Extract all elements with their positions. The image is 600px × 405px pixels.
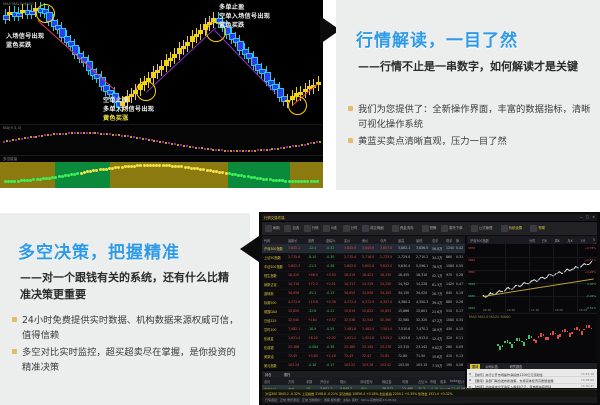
indicator-dot (186, 145, 188, 147)
terminal-status-bar: 行情连接：正常 委托通道：正常 当前用户：游客 服务器：主站1 延时：32ms … (262, 397, 597, 403)
toolbar-icon[interactable] (471, 225, 478, 232)
candle (509, 342, 511, 344)
quote-cell: 23.192 (362, 345, 373, 349)
indicator-dot (30, 136, 32, 138)
quote-cell: +96.5 (308, 273, 318, 277)
quote-cell: 32,320 (416, 318, 427, 322)
toolbar-icon[interactable] (323, 225, 330, 232)
quote-cell: 2,715.4 (344, 255, 356, 259)
column-header[interactable]: 市值 (430, 379, 436, 384)
price-line-segment (589, 262, 592, 265)
quote-cell: 1,925.8 (398, 336, 410, 340)
quote-cell: 3,862.1 (398, 246, 410, 250)
quote-cell: 5,602.3 (288, 264, 300, 268)
column-header[interactable]: 涨幅% (326, 238, 335, 243)
ticker-text: 沪深300 3845.2 -0.32% 上证指数 3198.6 -0.21% 深… (265, 391, 453, 396)
column-header[interactable]: 最低 (416, 238, 422, 243)
news-timestamp: 15:38:05 (581, 378, 594, 382)
annotation-line: 多单入场信号出现 (103, 106, 154, 115)
quote-cell: 34.2万 (432, 255, 442, 260)
column-header[interactable]: 开仓价 (320, 379, 330, 384)
indicator-dot (27, 137, 29, 139)
quote-cell: 14,317 (344, 282, 355, 286)
quote-cell: +184 (308, 318, 317, 322)
quote-cell: 860 (446, 255, 452, 259)
grid-line (577, 244, 578, 312)
chart-sub-indicator-2: 多空能量 (0, 155, 323, 188)
quote-cell: 2,710.2 (416, 255, 428, 259)
indicator-dot (9, 140, 11, 142)
quote-cell: 78.5万 (432, 264, 442, 269)
candle (576, 327, 578, 331)
quote-cell: 640 (446, 291, 452, 295)
signal-marker-4[interactable] (288, 96, 307, 115)
column-header[interactable]: 手数 (306, 379, 312, 384)
indicator-dot (142, 138, 144, 140)
toolbar-button[interactable]: 成交明细 (370, 225, 384, 230)
grid-line (467, 270, 597, 271)
quote-cell: -0.21 (326, 309, 334, 313)
indicator-dot (271, 148, 273, 150)
indicator-dot (248, 150, 250, 152)
quote-cell: 34,102 (380, 291, 391, 295)
candle (535, 340, 537, 344)
column-header[interactable]: 合约 (264, 379, 270, 384)
indicator-dot (283, 147, 285, 149)
toolbar-icon[interactable] (530, 225, 537, 232)
quote-cell: 1420 (446, 282, 454, 286)
quote-cell: +0.51 (326, 282, 336, 286)
indicator-dot (295, 145, 297, 147)
quote-cell: 3,845.0 (344, 246, 356, 250)
candle (533, 339, 535, 341)
quote-cell: 103.15 (416, 363, 427, 367)
toolbar-icon[interactable] (343, 225, 350, 232)
quote-cell: 72.80 (398, 354, 407, 358)
quote-cell: 0.11 (456, 336, 463, 340)
quote-cell: 39.4万 (432, 300, 442, 305)
quote-name: 上证50指数 (264, 255, 281, 260)
quote-cell: 2,723.5 (380, 255, 392, 259)
quote-cell: -0.25 (326, 327, 334, 331)
column-header[interactable]: 涨跌 (308, 238, 314, 243)
quote-cell: 7,482.5 (362, 327, 374, 331)
indicator-dot (50, 134, 52, 136)
quote-cell: 61.3万 (432, 282, 442, 287)
price-tick-label: 3820 (468, 306, 475, 310)
candle (574, 328, 576, 331)
toolbar-icon[interactable] (362, 225, 369, 232)
column-header[interactable]: 今开 (380, 238, 386, 243)
terminal-toolbar[interactable]: 刷新自选行情K线分时成交明细资金流向预警委托下单公式管理系统设置帮助 (262, 222, 597, 236)
annotation-line-highlight: 黄色买涨 (103, 115, 154, 124)
candle (526, 339, 528, 341)
quote-cell: -8.10 (308, 255, 316, 259)
quote-cell: 3,836.5 (416, 246, 428, 250)
news-bullet-icon (469, 386, 471, 388)
chart-main-pane: MA5 MA10 MA20 入场信号出现 蓝色买跌 空单止盈 多单入场信号出现 … (0, 0, 323, 124)
candle (579, 329, 581, 331)
quote-cell: -0.32 (326, 246, 334, 250)
quote-cell: 14,342 (398, 282, 409, 286)
quote-cell: 1080 (446, 318, 454, 322)
indicator-dot (38, 135, 40, 137)
indicator-dot (239, 150, 241, 152)
indicator-dot (165, 142, 167, 144)
indicator-dot (204, 148, 206, 150)
indicator-dot (210, 148, 212, 150)
chart-sub-indicator-1: KDJ(9,3,3) (0, 124, 323, 155)
quote-cell: 47.2万 (432, 318, 442, 323)
column-header[interactable]: 现手 (446, 238, 452, 243)
indicator-dot (269, 149, 271, 151)
candle-chart-ma-label: MA5 MA10 MA20 MA60 (469, 315, 511, 319)
quote-cell: 34,055 (344, 291, 355, 295)
quote-name: 中证500指数 (264, 264, 283, 269)
indicator-dot (180, 144, 182, 146)
toolbar-icon[interactable] (441, 225, 448, 232)
candle (538, 336, 540, 338)
toolbar-button[interactable]: 行情 (312, 225, 319, 230)
indicator-dot (274, 148, 276, 150)
quote-cell: 4,350.3 (416, 300, 428, 304)
mini-chart-candles: MA5 MA10 MA20 MA60 (467, 313, 597, 362)
quote-name: 美原油 (264, 354, 274, 359)
indicator-dot (133, 136, 135, 138)
indicator-dot (112, 134, 114, 136)
signal-marker-1[interactable] (36, 4, 55, 23)
toolbar-icon[interactable] (501, 225, 508, 232)
price-tick-label: 3850 (468, 270, 475, 274)
quote-cell: +0.57 (326, 318, 336, 322)
indicator-dot (286, 146, 288, 148)
quote-cell: 32,540 (288, 318, 299, 322)
quote-cell: 15,822 (362, 309, 373, 313)
quote-name: 伦敦银 (264, 345, 274, 350)
indicator-dot (68, 132, 70, 134)
annotation-line: 入场信号出现 (6, 33, 44, 42)
quote-cell: 18,310 (416, 273, 427, 277)
column-header[interactable]: 买价 (344, 238, 350, 243)
quote-cell: 0.26 (456, 300, 463, 304)
quote-cell: 32,360 (380, 318, 391, 322)
indicator-dot (292, 145, 294, 147)
quote-cell: -0.13 (326, 291, 334, 295)
candle (545, 337, 547, 340)
column-header[interactable]: 代码 (264, 238, 270, 243)
quote-cell: 72.47 (362, 354, 371, 358)
toolbar-button[interactable]: 公式管理 (479, 225, 493, 230)
column-header[interactable]: 最高 (398, 238, 404, 243)
indicator-dot (148, 139, 150, 141)
mini-chart-tab[interactable]: 分时 (529, 238, 535, 243)
quote-name: 日经225 (264, 318, 276, 323)
market-reading-title: 行情解读，一目了然 (356, 26, 518, 51)
indicator-dot (263, 149, 265, 151)
quote-table-panel[interactable]: 代码最新价涨跌涨幅%买价卖价今开最高最低总手现手换手% 沪深300指数3,845… (262, 236, 465, 388)
indicator-dot (251, 150, 253, 152)
toolbar-button[interactable]: 预警 (430, 225, 437, 230)
indicator-dot (215, 149, 217, 151)
quote-cell: 18,420 (288, 273, 299, 277)
candle (557, 335, 559, 339)
candle (581, 331, 583, 335)
toolbar-icon[interactable] (304, 225, 311, 232)
column-header[interactable]: 卖价 (362, 238, 368, 243)
candle (507, 340, 509, 344)
indicator-dot (192, 146, 194, 148)
quote-cell: -0.17 (326, 363, 334, 367)
grid-line (467, 283, 597, 284)
toolbar-button[interactable]: 刷新 (273, 225, 280, 230)
quote-cell: 103.26 (362, 363, 373, 367)
mini-chart-tab[interactable]: 月K (567, 238, 572, 243)
time-tick-label: 14:00 (555, 308, 563, 312)
indicator-dot (115, 134, 117, 136)
news-bullet-icon (469, 373, 471, 375)
quote-cell: 0.31 (456, 255, 463, 259)
quote-cell: 1,921.6 (362, 336, 374, 340)
quote-cell: -32.6 (308, 309, 316, 313)
slide-root: MA5 MA10 MA20 入场信号出现 蓝色买跌 空单止盈 多单入场信号出现 … (0, 0, 600, 405)
column-header[interactable]: 成本 (440, 379, 446, 384)
quote-cell: 18,419 (344, 273, 355, 277)
toolbar-button[interactable]: 系统设置 (509, 225, 523, 230)
quote-cell: 0.34 (456, 318, 463, 322)
bullet-square-icon (12, 349, 17, 354)
indicator-dot (201, 147, 203, 149)
percent-tick-label: +0.78% (585, 246, 596, 250)
quote-cell: 3,845.6 (362, 246, 374, 250)
indicator-dot (127, 135, 129, 137)
indicator-dot (266, 149, 268, 151)
quote-cell: -45.2 (308, 291, 316, 295)
quote-cell: 12.4万 (432, 336, 442, 341)
quote-cell: 15,866 (398, 309, 409, 313)
price-tick-label: 3840 (468, 282, 475, 286)
quote-cell: 15,853 (380, 309, 391, 313)
mini-chart-panel[interactable]: 沪深300指数 分时日K周K月K1分5分15分30分60分 3870386038… (467, 236, 597, 388)
trendline-down-1 (37, 20, 115, 90)
quote-cell: 7,501.0 (380, 327, 392, 331)
column-header[interactable]: 现价 (340, 379, 346, 384)
indicator-dot (301, 144, 303, 146)
quote-cell: -21.5 (308, 264, 316, 268)
indicator-dot (53, 133, 55, 135)
market-reading-subtitle: ——行情不止是一串数字，如何解读才是关键 (358, 58, 586, 75)
price-tick-label: 3870 (468, 246, 475, 250)
annotation-long-take-profit: 多单止盈 空单入场信号出现 蓝色买跌 (219, 4, 270, 31)
quote-cell: 5,630.4 (398, 264, 410, 268)
quote-cell: 34,058 (362, 291, 373, 295)
quote-name: 恒生指数 (264, 273, 277, 278)
window-close-button[interactable]: × (592, 215, 595, 219)
toolbar-button[interactable]: 委托下单 (449, 225, 463, 230)
indicator-dot (189, 146, 191, 148)
column-header[interactable]: 最新价 (288, 238, 298, 243)
candle (543, 334, 545, 336)
candle (502, 345, 504, 347)
quote-cell: 0.17 (456, 309, 463, 313)
price-line-segment (586, 264, 588, 265)
price-tick-label: 3830 (468, 294, 475, 298)
indicator-dot (307, 143, 309, 145)
candle (504, 341, 506, 344)
column-header[interactable]: 保证金 (382, 379, 392, 384)
indicator-dot (80, 132, 82, 134)
candle (499, 346, 501, 350)
quote-cell: 103.24 (288, 363, 299, 367)
mini-chart-tab[interactable]: 1分 (580, 238, 585, 243)
candle (552, 331, 554, 335)
quote-name: 道琼斯 (264, 291, 274, 296)
quote-cell: +6.20 (308, 336, 318, 340)
percent-tick-label: -0.26% (586, 294, 596, 298)
quote-cell: 0.19 (456, 291, 463, 295)
quote-cell: -18.9 (308, 327, 316, 331)
scrolling-ticker: 沪深300 3845.2 -0.32% 上证指数 3198.6 -0.21% 深… (262, 389, 597, 397)
quote-name: 美元指数 (264, 363, 277, 368)
quote-cell: 3,857.8 (380, 246, 392, 250)
indicator-dot (41, 135, 43, 137)
quote-cell: 4,357.0 (380, 300, 392, 304)
column-header[interactable]: 总计 (458, 379, 464, 384)
mini-chart-tab[interactable]: 周K (555, 238, 560, 243)
quote-cell: 28.7万 (432, 291, 442, 296)
quote-cell: 4,372.9 (362, 300, 374, 304)
indicator-dot (277, 148, 279, 150)
indicator-dot (227, 150, 229, 152)
pointer-arrow-left (240, 236, 259, 262)
indicator-dot (24, 137, 26, 139)
grid-line (467, 257, 597, 258)
quote-cell: 4,372.6 (288, 300, 300, 304)
quote-cell: 32,538 (344, 318, 355, 322)
indicator-dot (221, 149, 223, 151)
news-timestamp: 15:42:18 (581, 372, 594, 376)
toolbar-button[interactable]: 帮助 (538, 225, 545, 230)
indicator-dot (316, 180, 319, 183)
quote-cell: 15,819 (344, 309, 355, 313)
grid-line (553, 244, 554, 312)
toolbar-button[interactable]: 资金流向 (400, 225, 414, 230)
list-item: 黄蓝买卖点清晰直观，压力一目了然 (348, 134, 592, 149)
quote-name: 标普500 (264, 300, 276, 305)
indicator-dot (151, 139, 153, 141)
indicator-dot (162, 141, 164, 143)
grid-line (529, 244, 530, 312)
toolbar-button[interactable]: 分时 (351, 225, 358, 230)
quote-cell: 23.180 (344, 345, 355, 349)
mini-chart-tab[interactable]: 日K (542, 238, 547, 243)
sub-indicator-1-label: KDJ(9,3,3) (3, 126, 21, 130)
toolbar-button[interactable]: 自选 (292, 225, 299, 230)
window-minimize-button[interactable]: — (580, 215, 583, 219)
quote-cell: 71.50 (416, 354, 425, 358)
indicator-dot (83, 132, 85, 134)
indicator-dot (44, 134, 46, 136)
quote-cell: 5,602.0 (344, 264, 356, 268)
toolbar-button[interactable]: K线 (331, 225, 337, 230)
indicator-dot (139, 137, 141, 139)
quote-name: 德国DAX (264, 309, 277, 314)
column-header[interactable]: 方向 (288, 379, 294, 384)
indicator-dot (316, 141, 318, 143)
annotation-line: 空单入场信号出现 (219, 13, 270, 22)
column-header[interactable]: 占比% (418, 379, 427, 384)
quote-cell: 880 (446, 300, 452, 304)
quote-cell: 56.8万 (432, 246, 442, 251)
price-tick-label: 3860 (468, 258, 475, 262)
candle (523, 342, 525, 346)
indicator-dot (106, 133, 108, 135)
long-short-subtitle: ——对一个跟钱有关的系统，还有什么比精准决策更重要 (20, 269, 238, 303)
candle (559, 334, 561, 337)
annotation-short-take-profit: 空单止盈 多单入场信号出现 黄色买涨 (103, 97, 154, 124)
candle (586, 325, 588, 328)
candle (528, 335, 530, 339)
quote-cell: 0.42 (456, 246, 463, 250)
annotation-line: 蓝色买跌 (219, 22, 270, 31)
indicator-dot (121, 135, 123, 137)
quote-cell: 15.6万 (432, 354, 442, 359)
market-reading-section: 行情解读，一目了然 ——行情不止是一串数字，如何解读才是关键 我们为您提供了：全… (336, 0, 600, 190)
candle (516, 338, 518, 341)
quote-cell: 14,250 (380, 282, 391, 286)
indicator-dot (86, 132, 88, 134)
indicator-dot (289, 146, 291, 148)
candle (497, 344, 499, 346)
quote-cell: 5,623.0 (380, 264, 392, 268)
window-maximize-button[interactable]: □ (586, 215, 589, 219)
toolbar-icon[interactable] (284, 225, 291, 232)
terminal-titlebar: 行情交易终端 — □ × (262, 214, 597, 222)
terminal-title: 行情交易终端 (264, 215, 284, 220)
indicator-dot (103, 133, 105, 135)
candle (591, 328, 593, 330)
indicator-dot (89, 132, 91, 134)
indicator-dot (59, 133, 61, 135)
column-header[interactable]: 浮动盈亏 (360, 379, 373, 384)
indicator-dot (224, 150, 226, 152)
indicator-dot (92, 132, 94, 134)
quote-cell: 7,510.6 (398, 327, 410, 331)
indicator-dot (94, 132, 96, 134)
quote-cell: +1.16 (326, 354, 336, 358)
bullet-text: 我们为您提供了：全新操作界面，丰富的数据指标，清晰可视化操作系统 (358, 102, 592, 132)
column-header[interactable]: 总手 (432, 238, 438, 243)
toolbar-icon[interactable] (265, 225, 272, 232)
toolbar-icon[interactable] (422, 225, 429, 232)
news-list[interactable]: 【快讯】央行公开市场操作净投放1200亿元流动性15:42:18【要闻】多部门联… (467, 369, 597, 388)
quote-cell: 0.47 (456, 282, 463, 286)
indicator-dot (62, 133, 64, 135)
indicator-dot (233, 150, 235, 152)
percent-tick-label: +0.26% (585, 270, 596, 274)
indicator-dot (159, 141, 161, 143)
quote-cell: 103.50 (398, 363, 409, 367)
quote-cell: 103.22 (344, 363, 355, 367)
column-header[interactable]: 可用 (402, 379, 408, 384)
toolbar-icon[interactable] (392, 225, 399, 232)
quote-cell: 3,845.2 (288, 246, 300, 250)
list-item: 多空对比实时监控，超买超卖尽在掌握，是你投资的精准决策 (12, 345, 244, 375)
indicator-dot (136, 137, 138, 139)
indicator-dot (3, 141, 5, 143)
indicator-dot (257, 149, 259, 151)
candle (569, 333, 571, 337)
quote-name: 沪深300指数 (264, 246, 283, 251)
